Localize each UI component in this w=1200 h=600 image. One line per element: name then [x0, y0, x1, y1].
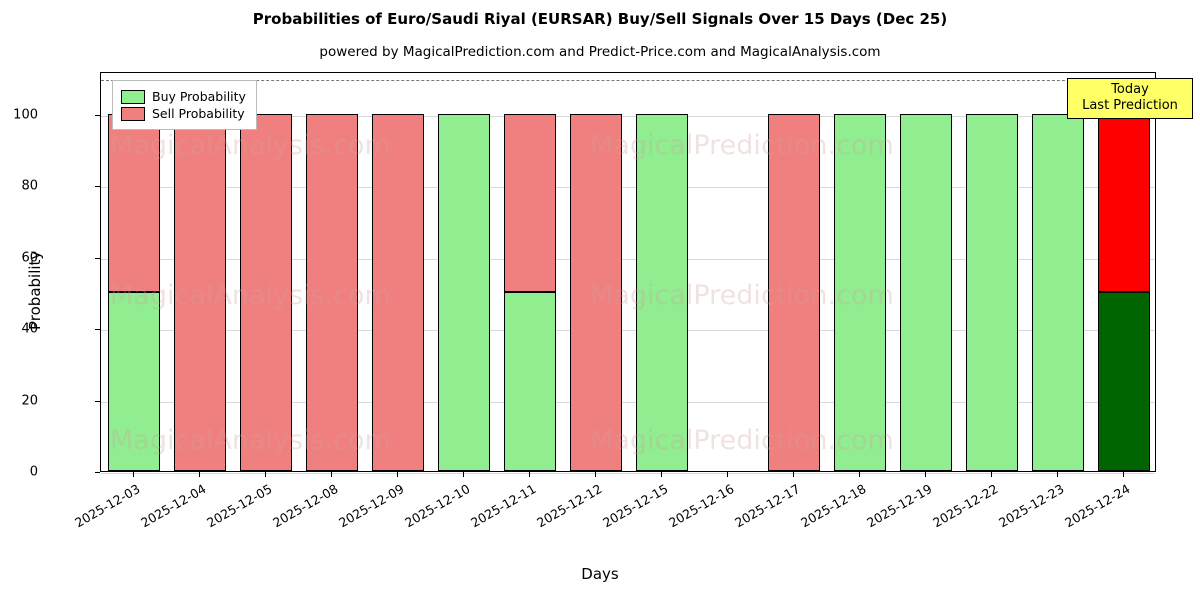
today-marker-box: Today Last Prediction	[1067, 78, 1193, 119]
bar-group	[438, 73, 491, 471]
y-tick-label: 80	[0, 186, 38, 201]
bar-segment-buy	[1098, 292, 1151, 471]
y-tick-mark	[95, 115, 100, 116]
legend-item-buy: Buy Probability	[121, 89, 246, 104]
y-tick-label: 40	[0, 329, 38, 344]
bar-group	[636, 73, 689, 471]
today-marker-line1: Today	[1074, 82, 1186, 98]
x-tick-mark	[397, 472, 398, 477]
x-tick-mark	[133, 472, 134, 477]
bar-segment-sell	[1098, 114, 1151, 293]
legend-label-buy: Buy Probability	[152, 89, 246, 104]
bar-segment-buy	[834, 114, 887, 471]
bar-segment-sell	[372, 114, 425, 471]
legend-swatch-buy	[121, 90, 145, 104]
chart-title: Probabilities of Euro/Saudi Riyal (EURSA…	[0, 10, 1200, 28]
bar-segment-buy	[636, 114, 689, 471]
bar-group	[240, 73, 293, 471]
bar-group	[108, 73, 161, 471]
bar-group	[1032, 73, 1085, 471]
bar-segment-sell	[306, 114, 359, 471]
bar-group	[834, 73, 887, 471]
bar-segment-sell	[570, 114, 623, 471]
bar-segment-sell	[240, 114, 293, 471]
bar-group	[900, 73, 953, 471]
bar-group	[702, 73, 755, 471]
x-tick-mark	[727, 472, 728, 477]
bar-group	[174, 73, 227, 471]
bar-segment-sell	[504, 114, 557, 293]
bar-group	[768, 73, 821, 471]
y-tick-mark	[95, 186, 100, 187]
bar-segment-sell	[108, 114, 161, 293]
bar-segment-buy	[438, 114, 491, 471]
bar-group	[1098, 73, 1151, 471]
plot-area	[100, 72, 1156, 472]
x-tick-mark	[991, 472, 992, 477]
x-tick-mark	[1123, 472, 1124, 477]
y-tick-label: 0	[0, 472, 38, 487]
chart-subtitle: powered by MagicalPrediction.com and Pre…	[0, 44, 1200, 60]
x-tick-mark	[661, 472, 662, 477]
bar-segment-buy	[900, 114, 953, 471]
x-tick-mark	[529, 472, 530, 477]
legend: Buy Probability Sell Probability	[112, 80, 257, 130]
x-tick-mark	[793, 472, 794, 477]
bar-group	[504, 73, 557, 471]
legend-label-sell: Sell Probability	[152, 106, 245, 121]
bar-group	[372, 73, 425, 471]
y-tick-label: 100	[0, 115, 38, 130]
legend-item-sell: Sell Probability	[121, 106, 246, 121]
bar-segment-buy	[108, 292, 161, 471]
x-tick-mark	[265, 472, 266, 477]
x-tick-mark	[925, 472, 926, 477]
chart-root: Probabilities of Euro/Saudi Riyal (EURSA…	[0, 0, 1200, 600]
today-marker-line2: Last Prediction	[1074, 98, 1186, 114]
y-tick-mark	[95, 401, 100, 402]
bar-group	[966, 73, 1019, 471]
x-tick-mark	[199, 472, 200, 477]
x-tick-mark	[859, 472, 860, 477]
bar-segment-buy	[504, 292, 557, 471]
x-tick-mark	[463, 472, 464, 477]
bar-segment-buy	[1032, 114, 1085, 471]
y-tick-mark	[95, 258, 100, 259]
y-tick-label: 60	[0, 258, 38, 273]
gridline	[101, 473, 1155, 474]
bar-segment-sell	[768, 114, 821, 471]
y-tick-mark	[95, 329, 100, 330]
bar-group	[570, 73, 623, 471]
plot-inner	[101, 73, 1155, 471]
x-tick-mark	[595, 472, 596, 477]
bar-group	[306, 73, 359, 471]
y-tick-mark	[95, 472, 100, 473]
x-axis-label: Days	[0, 565, 1200, 583]
x-tick-mark	[1057, 472, 1058, 477]
y-tick-label: 20	[0, 401, 38, 416]
bar-segment-sell	[174, 114, 227, 471]
x-tick-mark	[331, 472, 332, 477]
bar-segment-buy	[966, 114, 1019, 471]
legend-swatch-sell	[121, 107, 145, 121]
